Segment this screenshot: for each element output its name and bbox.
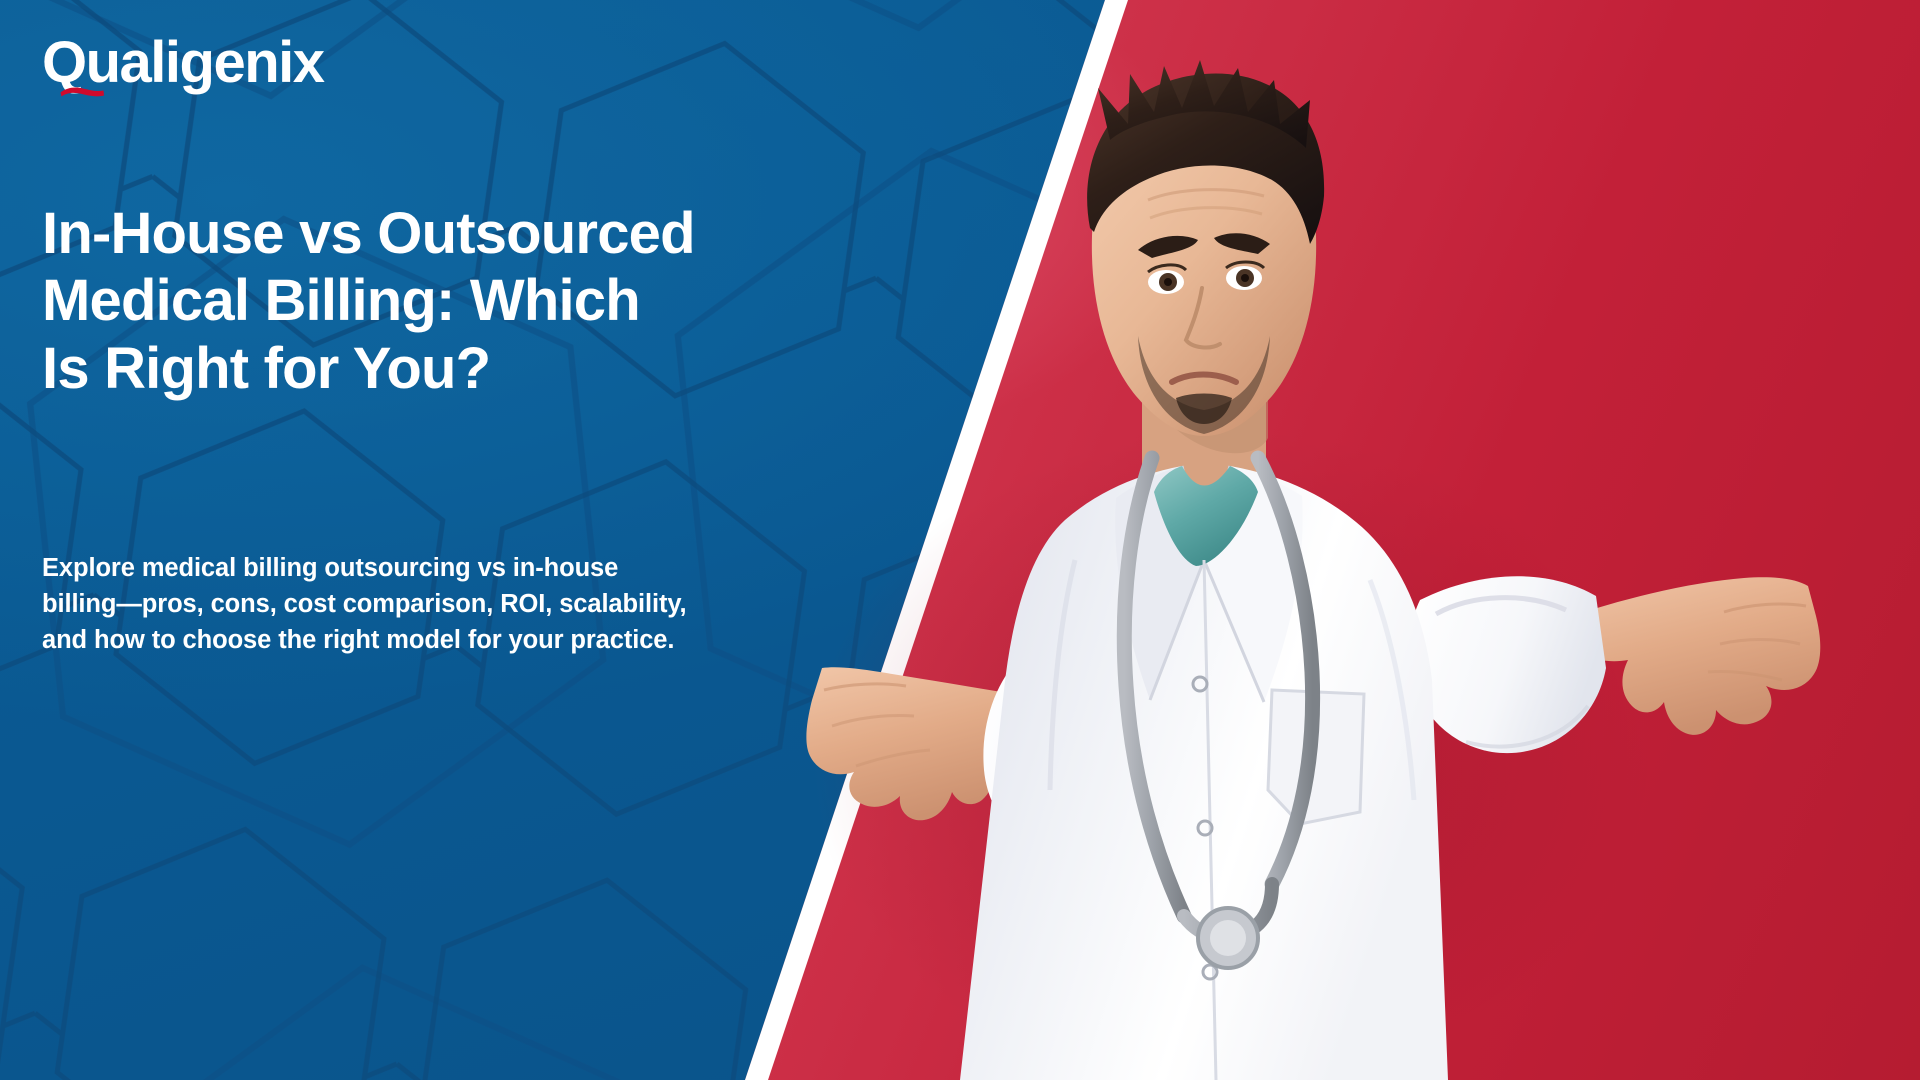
- brand-name: Qualigenix: [42, 34, 324, 92]
- headline-line-1: In-House vs Outsourced: [42, 200, 762, 267]
- hero-banner: Qualigenix In-House vs Outsourced Medica…: [0, 0, 1920, 1080]
- subheading-line-2: billing—pros, cons, cost comparison, ROI…: [42, 586, 742, 622]
- page-subtitle: Explore medical billing outsourcing vs i…: [42, 550, 742, 659]
- brand-logo[interactable]: Qualigenix: [42, 34, 324, 92]
- subheading-line-3: and how to choose the right model for yo…: [42, 622, 742, 658]
- headline-line-3: Is Right for You?: [42, 335, 762, 402]
- q-swoosh-mark: [59, 85, 105, 98]
- subheading-line-1: Explore medical billing outsourcing vs i…: [42, 550, 742, 586]
- headline-line-2: Medical Billing: Which: [42, 267, 762, 334]
- page-title: In-House vs Outsourced Medical Billing: …: [42, 200, 762, 402]
- hero-content: Qualigenix In-House vs Outsourced Medica…: [0, 0, 1105, 1080]
